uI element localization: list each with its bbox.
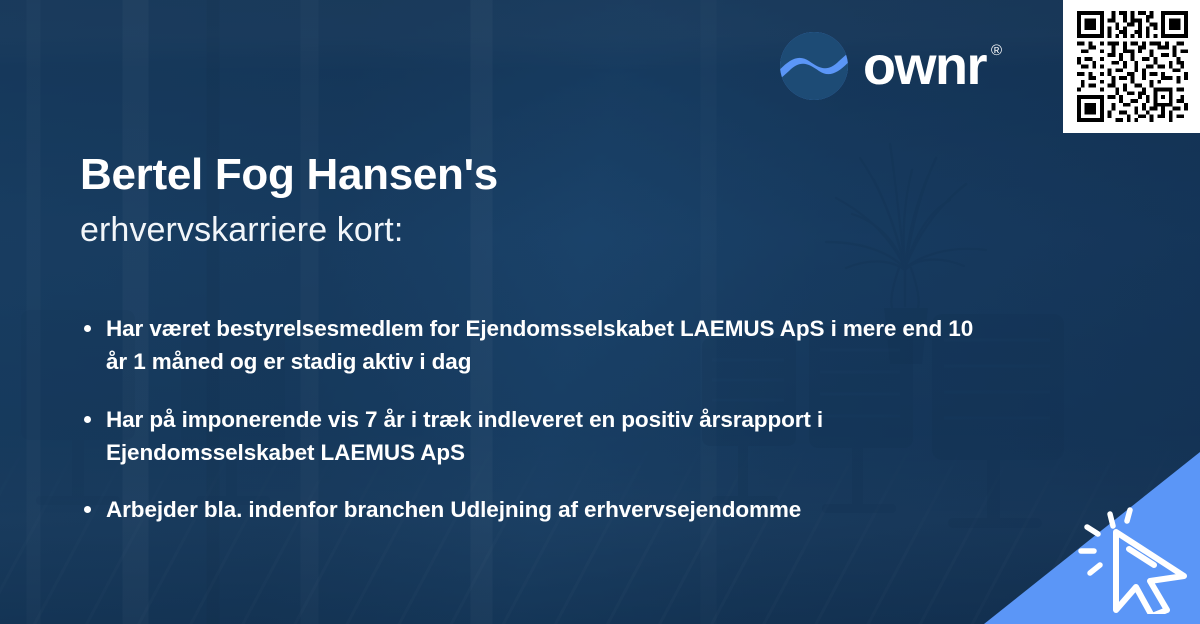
list-item-text: Arbejder bla. indenfor branchen Udlejnin… xyxy=(106,497,801,522)
list-item-text: Har været bestyrelsesmedlem for Ejendoms… xyxy=(106,316,973,374)
qr-code-graphic xyxy=(1075,11,1190,122)
headline-subtitle: erhvervskarriere kort: xyxy=(80,210,940,251)
bullet-dot-icon xyxy=(84,325,91,332)
ownr-circular-swirl-logo-icon xyxy=(779,31,849,101)
ownr-career-card: ownr® Bertel Fog Hansen's erhvervskarrie… xyxy=(0,0,1200,624)
list-item: Har været bestyrelsesmedlem for Ejendoms… xyxy=(80,312,980,379)
ownr-logo[interactable]: ownr® xyxy=(779,31,1002,101)
list-item: Har på imponerende vis 7 år i træk indle… xyxy=(80,403,980,470)
career-highlights-list: Har været bestyrelsesmedlem for Ejendoms… xyxy=(80,312,980,526)
bullet-dot-icon xyxy=(84,506,91,513)
ownr-wordmark: ownr® xyxy=(863,39,1002,93)
registered-trademark-symbol: ® xyxy=(991,43,1002,58)
qr-code[interactable] xyxy=(1063,0,1200,133)
headline-person-name: Bertel Fog Hansen's xyxy=(80,150,940,200)
page-title: Bertel Fog Hansen's erhvervskarriere kor… xyxy=(80,150,940,251)
bullet-dot-icon xyxy=(84,416,91,423)
click-cursor-icon xyxy=(1072,502,1194,614)
list-item-text: Har på imponerende vis 7 år i træk indle… xyxy=(106,407,823,465)
ownr-wordmark-text: ownr xyxy=(863,36,986,96)
list-item: Arbejder bla. indenfor branchen Udlejnin… xyxy=(80,493,980,526)
